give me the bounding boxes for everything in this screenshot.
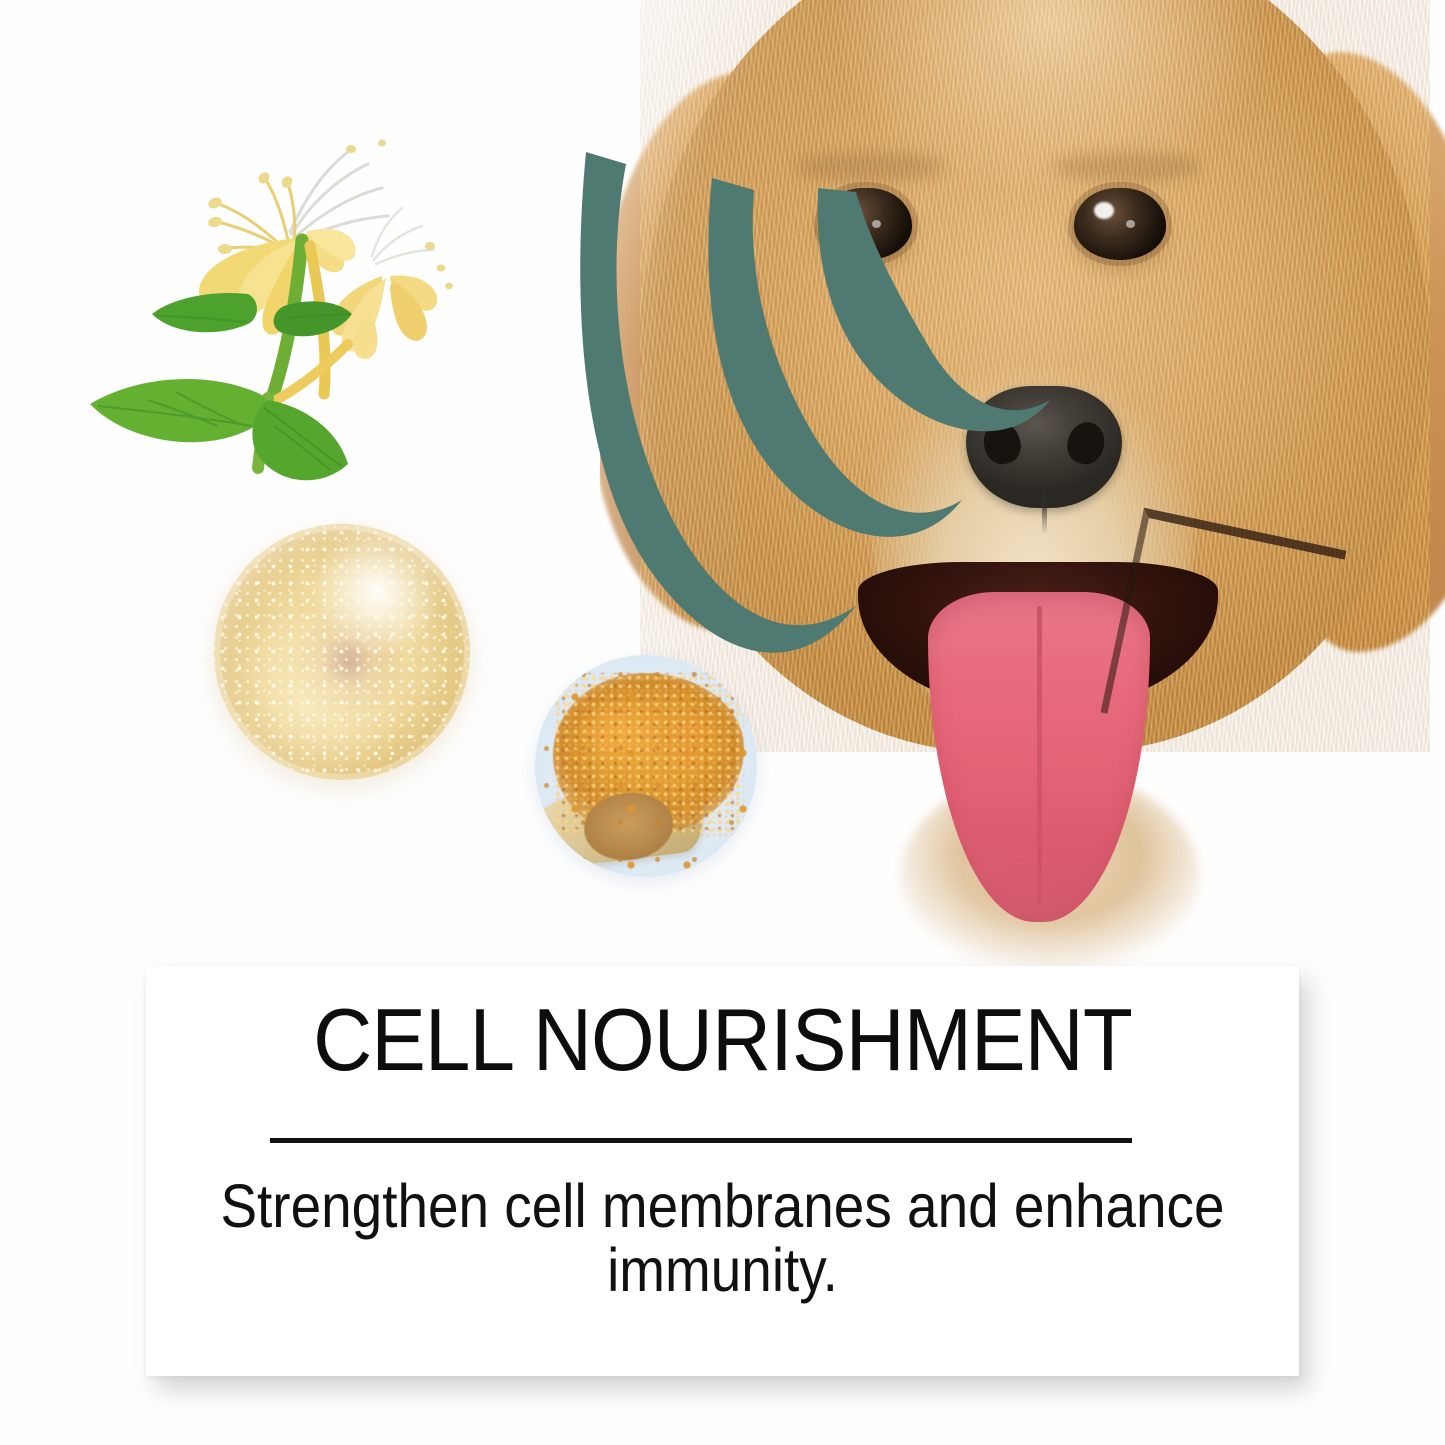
poster-stage: CELL NOURISHMENT Strengthen cell membran…	[0, 0, 1445, 1445]
golden-oil-bubble-icon	[214, 524, 470, 780]
dog-brow-right	[1052, 152, 1202, 182]
stamen-group-white	[290, 152, 388, 242]
turmeric-scattered-specks	[535, 655, 757, 877]
dog-brow-left	[796, 152, 946, 182]
leaf-upper-left	[152, 293, 257, 332]
leaf-big-right	[252, 400, 348, 480]
dog-eye-glint2-left	[872, 220, 881, 228]
info-card: CELL NOURISHMENT Strengthen cell membran…	[146, 966, 1299, 1376]
dog-eye-left	[820, 188, 912, 260]
dog-nose	[966, 386, 1122, 508]
dog-eye-glint2-right	[1126, 220, 1135, 228]
page-title: CELL NOURISHMENT	[186, 992, 1258, 1088]
dog-eye-glint-right	[1094, 202, 1114, 219]
card-subtitle: Strengthen cell membranes and enhance im…	[220, 1174, 1225, 1302]
dog-nose-cleft	[1042, 492, 1047, 534]
turmeric-powder-icon	[535, 655, 757, 877]
dog-tongue-crease	[1037, 606, 1042, 906]
dog-lip-line	[1101, 508, 1347, 755]
dog-nostril-left	[979, 418, 1025, 468]
title-divider	[270, 1138, 1132, 1143]
oil-bubble-rim	[214, 524, 470, 780]
dog-nostril-right	[1063, 418, 1109, 468]
dog-eye-glint-left	[840, 202, 860, 219]
honeysuckle-flower-icon	[52, 108, 492, 508]
dog-eye-right	[1074, 188, 1166, 260]
